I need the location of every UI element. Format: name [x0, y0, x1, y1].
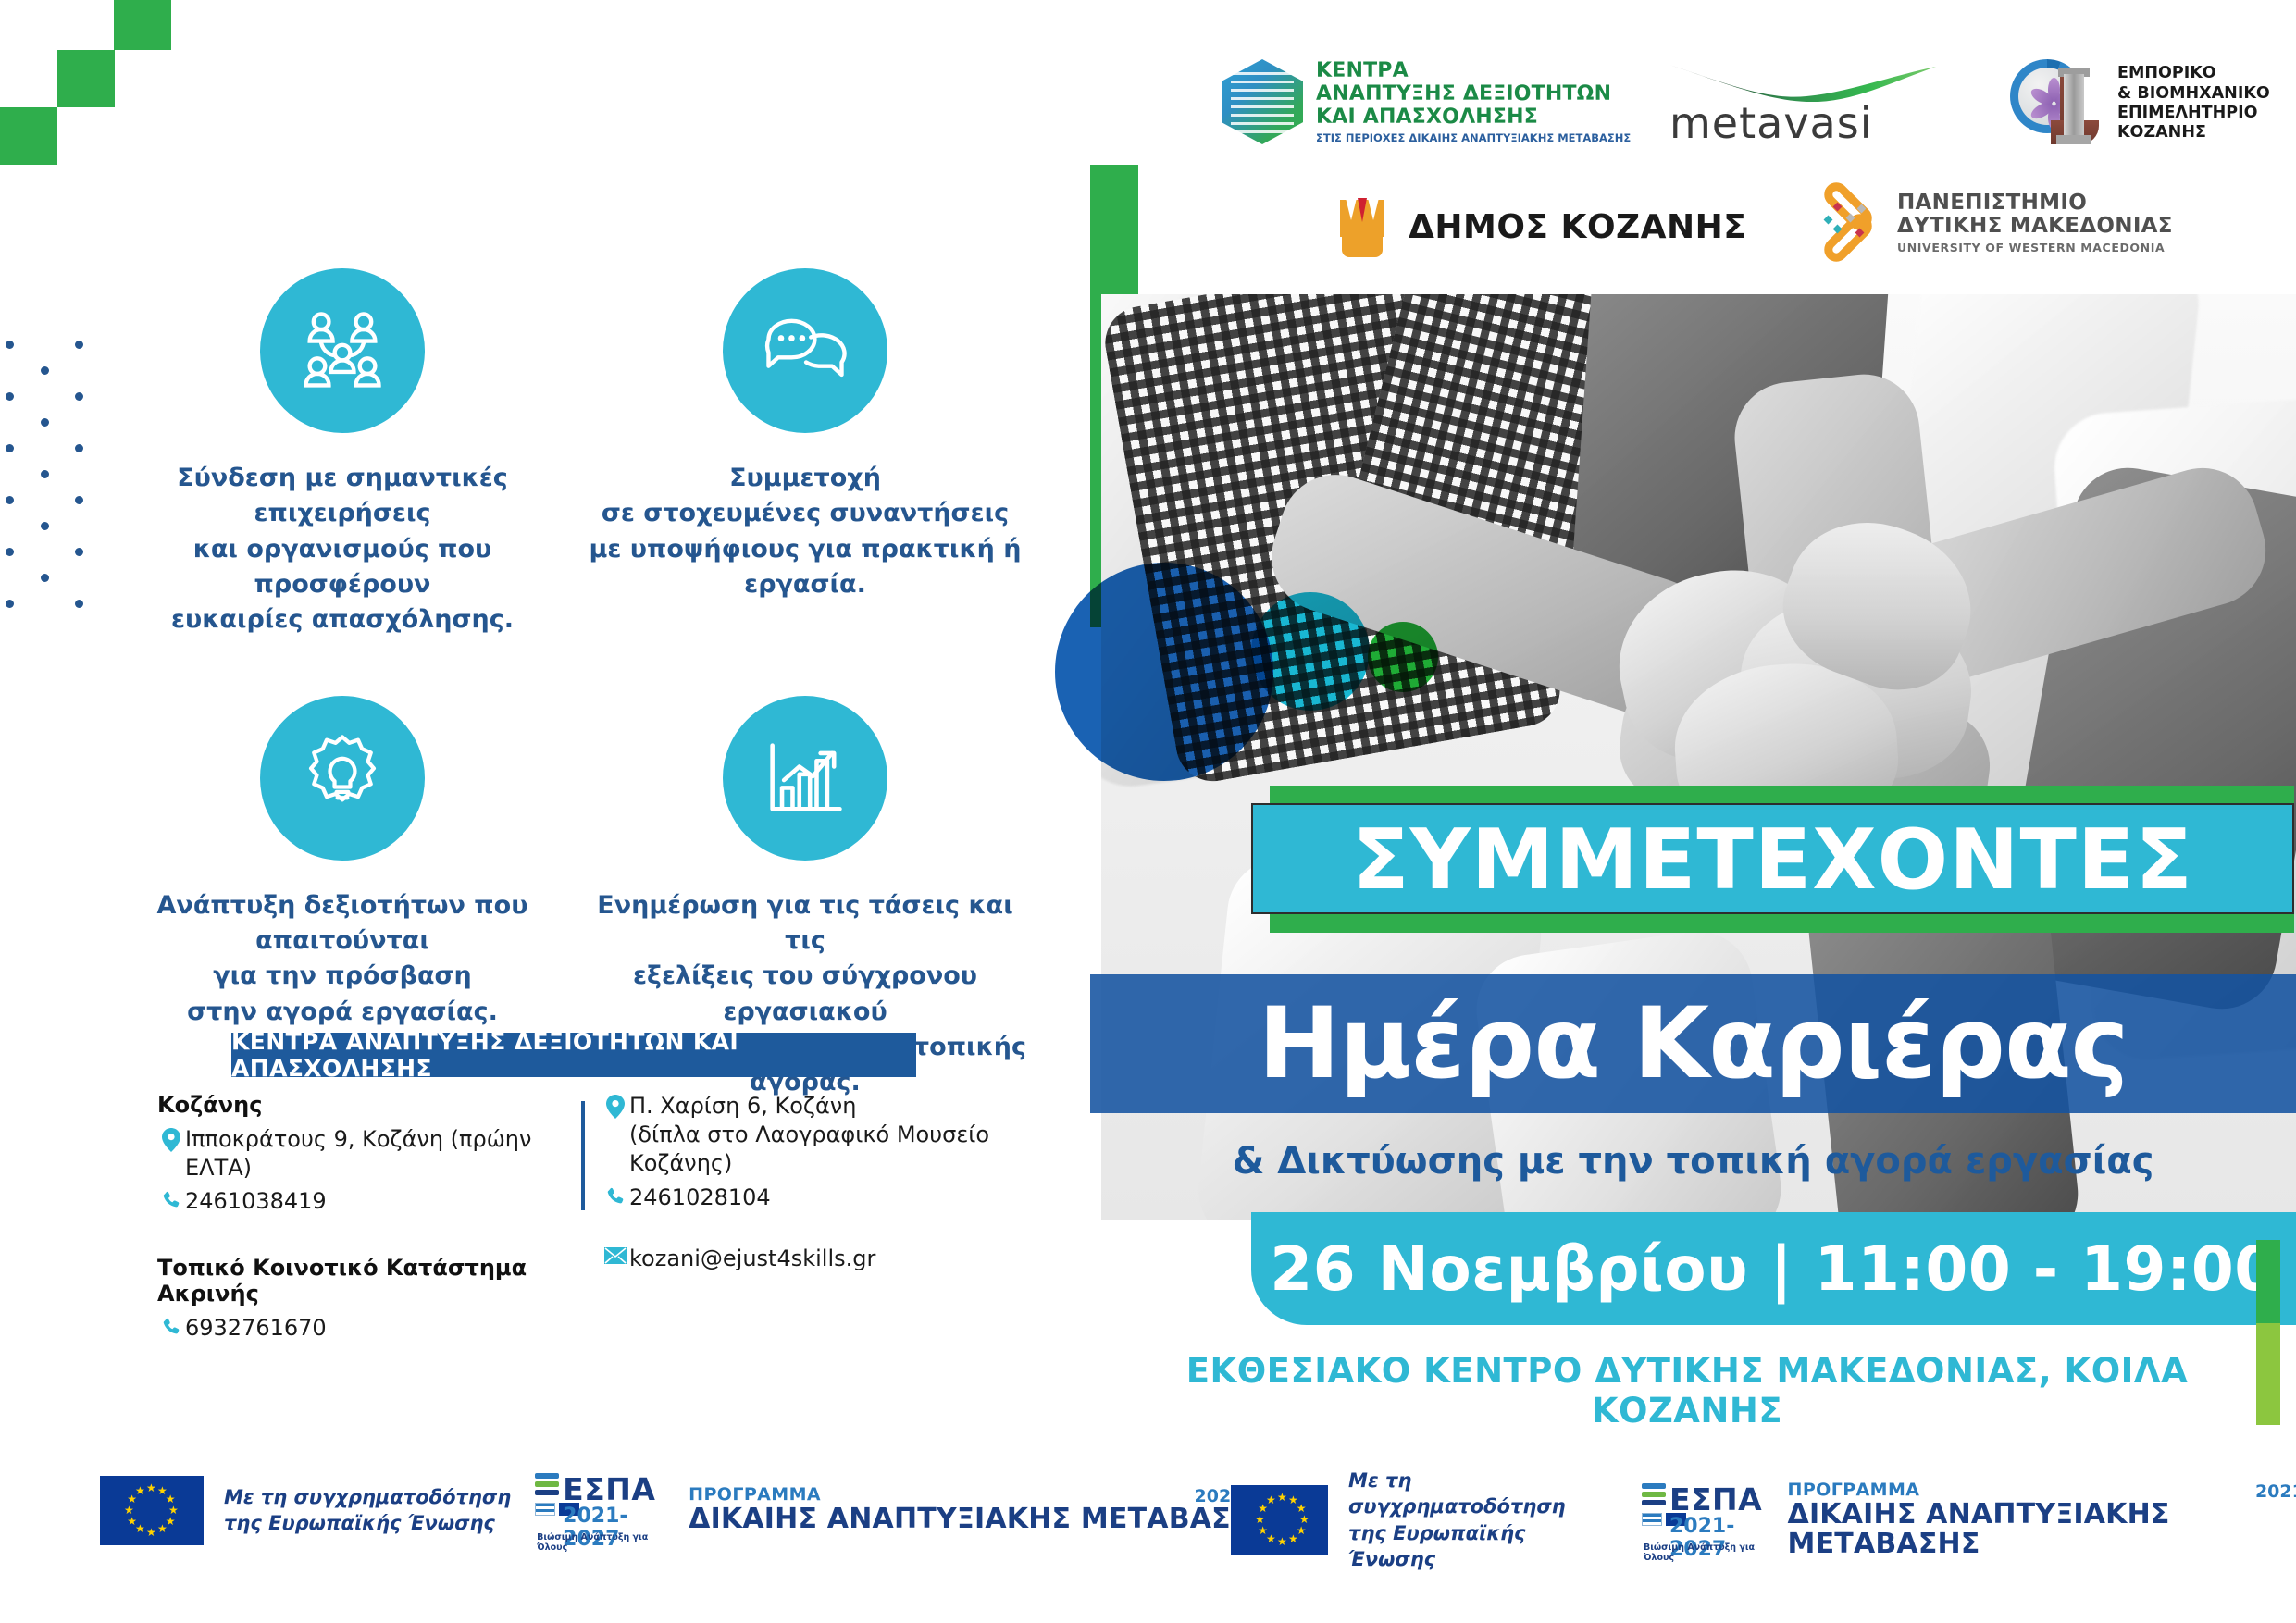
eu-flag-icon: ★★★★★★★★★★★★: [100, 1476, 204, 1545]
contact-row-address-right: Π. Χαρίση 6, Κοζάνη (δίπλα στο Λαογραφικ…: [602, 1092, 1027, 1179]
decor-green-tick-1: [2256, 1240, 2280, 1323]
chamber-line-1: ΕΜΠΟΡΙΚΟ: [2117, 64, 2270, 83]
tulip-icon: [1333, 194, 1392, 259]
program-line-2: ΔΙΚΑΙΗΣ ΑΝΑΠΤΥΞΙΑΚΗΣ ΜΕΤΑΒΑΣΗΣ: [689, 1505, 1299, 1534]
contact-phone-text: 2461038419: [185, 1187, 327, 1216]
contact-columns: Κοζάνης Ιπποκράτους 9, Κοζάνη (πρώην ΕΛΤ…: [157, 1092, 1027, 1347]
eu-cofunding-text: Με τη συγχρηματοδότηση της Ευρωπαϊκής Έν…: [224, 1484, 511, 1537]
logo-municipality-kozani: ΔΗΜΟΣ ΚΟΖΑΝΗΣ: [1333, 194, 1746, 259]
contact-column-left: Κοζάνης Ιπποκράτους 9, Κοζάνη (πρώην ΕΛΤ…: [157, 1092, 546, 1347]
greek-flag-icon: [1642, 1513, 1662, 1526]
decor-dot-grid: [6, 341, 89, 618]
overlay-circle-cyan: [1251, 592, 1370, 711]
program-block: ΠΡΟΓΡΑΜΜΑ ΔΙΚΑΙΗΣ ΑΝΑΠΤΥΞΙΑΚΗΣ ΜΕΤΑΒΑΣΗΣ…: [1788, 1481, 2296, 1558]
footer-funding-left: ★★★★★★★★★★★★ Με τη συγχρηματοδότηση της …: [100, 1468, 1299, 1553]
decor-square-2: [57, 50, 115, 107]
contact-row-email[interactable]: kozani@ejust4skills.gr: [602, 1245, 1027, 1273]
gear-lightbulb-icon: [260, 696, 425, 861]
metavasi-wordmark: metavasi: [1669, 98, 1873, 148]
eu-line-1: Με τη συγχρηματοδότηση: [224, 1484, 511, 1510]
partner-logos-row-1: ΚΕΝΤΡΑ ΑΝΑΠΤΥΞΗΣ ΔΕΞΙΟΤΗΤΩΝ ΚΑΙ ΑΠΑΣΧΟΛΗ…: [1222, 56, 2286, 157]
contact-row-phone-2: 6932761670: [157, 1314, 546, 1343]
hero-title: Ημέρα Καριέρας: [1090, 974, 2296, 1113]
contact-divider: [581, 1101, 585, 1210]
hero-date-time: 26 Νοεμβρίου | 11:00 - 19:00: [1270, 1233, 2277, 1305]
metavasi-swoosh-icon: [1666, 61, 1943, 102]
chamber-line-3: ΕΠΙΜΕΛΗΤΗΡΙΟ: [2117, 104, 2270, 123]
greek-flag-icon: [535, 1503, 555, 1516]
chamber-line-4: ΚΟΖΑΝΗΣ: [2117, 123, 2270, 142]
contact-phone-right-text: 2461028104: [629, 1183, 771, 1212]
eu-line-2: της Ευρωπαϊκής Ένωσης: [1348, 1520, 1618, 1573]
location-pin-icon: [157, 1125, 185, 1152]
features-grid: Σύνδεση με σημαντικές επιχειρήσεις και ο…: [111, 268, 1036, 1101]
program-line-1: ΠΡΟΓΡΑΜΜΑ: [1788, 1481, 2296, 1500]
hero-subtitle: & Δικτύωσης με την τοπική αγορά εργασίας: [1090, 1140, 2296, 1183]
eu-line-1: Με τη συγχρηματοδότηση: [1348, 1468, 1618, 1520]
university-knot-icon: [1814, 189, 1882, 257]
espa-logo: ΕΣΠΑ 2021-2027 Βιώσιμη Ανάπτυξη για Όλου…: [1642, 1478, 1760, 1563]
hero-date-band: 26 Νοεμβρίου | 11:00 - 19:00: [1251, 1212, 2296, 1325]
feature-caption-1: Σύνδεση με σημαντικές επιχειρήσεις και ο…: [111, 461, 574, 638]
hero-banner: ΣΥΜΜΕΤΕΧΟΝΤΕΣ: [1251, 803, 2294, 914]
contact-row-address: Ιπποκράτους 9, Κοζάνη (πρώην ΕΛΤΑ): [157, 1125, 546, 1183]
feature-item-1: Σύνδεση με σημαντικές επιχειρήσεις και ο…: [111, 268, 574, 638]
kentra-line-1: ΚΕΝΤΡΑ: [1316, 59, 1631, 82]
kentra-tagline: ΣΤΙΣ ΠΕΡΙΟΧΕΣ ΔΙΚΑΙΗΣ ΑΝΑΠΤΥΞΙΑΚΗΣ ΜΕΤΑΒ…: [1316, 132, 1631, 144]
overlay-circle-green: [1368, 622, 1438, 692]
phone-icon: [157, 1187, 185, 1210]
contact-phone-2-text: 6932761670: [185, 1314, 327, 1343]
phone-icon: [157, 1314, 185, 1337]
contact-address-right-line2: (δίπλα στο Λαογραφικό Μουσείο Κοζάνης): [629, 1121, 989, 1176]
espa-tagline: Βιώσιμη Ανάπτυξη για Όλους: [1644, 1542, 1760, 1563]
logo-kentra: ΚΕΝΤΡΑ ΑΝΑΠΤΥΞΗΣ ΔΕΞΙΟΤΗΤΩΝ ΚΑΙ ΑΠΑΣΧΟΛΗ…: [1222, 59, 1631, 144]
contact-row-phone-right: 2461028104: [602, 1183, 1027, 1212]
partner-logos-row-2: ΔΗΜΟΣ ΚΟΖΑΝΗΣ ΠΑΝΕΠΙΣΤΗΜΙΟ ΔΥΤΙΚΗΣ ΜΑΚΕΔ…: [1333, 194, 2286, 278]
hero-venue: ΕΚΘΕΣΙΑΚΟ ΚΕΝΤΡΟ ΔΥΤΙΚΗΣ ΜΑΚΕΔΟΝΙΑΣ, ΚΟΙ…: [1090, 1351, 2284, 1431]
contact-address-right-line1: Π. Χαρίση 6, Κοζάνη: [629, 1093, 856, 1119]
logo-chamber-kozani: ΕΜΠΟΡΙΚΟ & ΒΙΟΜΗΧΑΝΙΚΟ ΕΠΙΜΕΛΗΤΗΡΙΟ ΚΟΖΑ…: [2008, 56, 2270, 152]
university-line-2: ΔΥΤΙΚΗΣ ΜΑΚΕΔΟΝΙΑΣ: [1897, 215, 2173, 238]
university-line-1: ΠΑΝΕΠΙΣΤΗΜΙΟ: [1897, 192, 2173, 215]
decor-square-3: [0, 107, 57, 165]
footer-funding-right: ★★★★★★★★★★★★ Με τη συγχρηματοδότηση της …: [1231, 1468, 2296, 1572]
program-block: ΠΡΟΓΡΑΜΜΑ ΔΙΚΑΙΗΣ ΑΝΑΠΤΥΞΙΑΚΗΣ ΜΕΤΑΒΑΣΗΣ…: [689, 1486, 1299, 1533]
contact-email-text[interactable]: kozani@ejust4skills.gr: [629, 1245, 875, 1273]
kentra-line-2: ΑΝΑΠΤΥΞΗΣ ΔΕΞΙΟΤΗΤΩΝ: [1316, 82, 1631, 105]
hero-title-text: Ημέρα Καριέρας: [1259, 995, 2128, 1093]
program-line-2: ΔΙΚΑΙΗΣ ΑΝΑΠΤΥΞΙΑΚΗΣ ΜΕΤΑΒΑΣΗΣ: [1788, 1500, 2296, 1558]
people-network-icon: [260, 268, 425, 433]
feature-item-2: Συμμετοχή σε στοχευμένες συναντήσεις με …: [574, 268, 1036, 638]
overlay-circle-blue: [1055, 563, 1273, 781]
contact-band-label: ΚΕΝΤΡΑ ΑΝΑΠΤΥΞΗΣ ΔΕΞΙΟΤΗΤΩΝ ΚΑΙ ΑΠΑΣΧΟΛΗ…: [231, 1028, 916, 1082]
logo-university-western-macedonia: ΠΑΝΕΠΙΣΤΗΜΙΟ ΔΥΤΙΚΗΣ ΜΑΚΕΔΟΝΙΑΣ UNIVERSI…: [1814, 189, 2173, 257]
location-pin-icon: [602, 1092, 629, 1119]
contact-heading-akrinis: Τοπικό Κοινοτικό Κατάστημα Ακρινής: [157, 1255, 546, 1307]
eu-line-2: της Ευρωπαϊκής Ένωσης: [224, 1510, 511, 1536]
program-years: 2021-2027: [2255, 1481, 2296, 1502]
phone-icon: [602, 1183, 629, 1207]
espa-logo: ΕΣΠΑ 2021-2027 Βιώσιμη Ανάπτυξη για Όλου…: [535, 1468, 661, 1553]
espa-bars-icon: [535, 1473, 559, 1501]
chamber-gear-flower-icon: [2008, 56, 2104, 152]
eu-cofunding-text: Με τη συγχρηματοδότηση της Ευρωπαϊκής Έν…: [1348, 1468, 1618, 1572]
growth-chart-icon: [723, 696, 887, 861]
contact-row-phone: 2461038419: [157, 1187, 546, 1216]
decor-square-1: [114, 0, 171, 50]
logo-metavasi: metavasi: [1666, 61, 1943, 150]
chamber-line-2: & ΒΙΟΜΗΧΑΝΙΚΟ: [2117, 84, 2270, 104]
feature-caption-2: Συμμετοχή σε στοχευμένες συναντήσεις με …: [574, 461, 1036, 602]
contact-band-title: ΚΕΝΤΡΑ ΑΝΑΠΤΥΞΗΣ ΔΕΞΙΟΤΗΤΩΝ ΚΑΙ ΑΠΑΣΧΟΛΗ…: [231, 1033, 916, 1077]
university-line-3: UNIVERSITY OF WESTERN MACEDONIA: [1897, 241, 2173, 254]
eu-flag-icon: ★★★★★★★★★★★★: [1231, 1485, 1328, 1555]
espa-tagline: Βιώσιμη Ανάπτυξη για Όλους: [537, 1532, 661, 1553]
envelope-icon: [602, 1245, 629, 1264]
contact-address-text: Ιπποκράτους 9, Κοζάνη (πρώην ΕΛΤΑ): [185, 1125, 546, 1183]
hero-banner-label: ΣΥΜΜΕΤΕΧΟΝΤΕΣ: [1253, 805, 2292, 916]
feature-caption-3: Ανάπτυξη δεξιοτήτων που απαιτούνται για …: [111, 888, 574, 1030]
contact-heading-kozanis: Κοζάνης: [157, 1092, 546, 1118]
chat-bubbles-icon: [723, 268, 887, 433]
kentra-cube-icon: [1222, 59, 1303, 144]
contact-column-right: Π. Χαρίση 6, Κοζάνη (δίπλα στο Λαογραφικ…: [546, 1092, 1027, 1347]
municipality-label: ΔΗΜΟΣ ΚΟΖΑΝΗΣ: [1409, 208, 1746, 246]
kentra-line-3: ΚΑΙ ΑΠΑΣΧΟΛΗΣΗΣ: [1316, 105, 1631, 129]
espa-bars-icon: [1642, 1483, 1666, 1511]
